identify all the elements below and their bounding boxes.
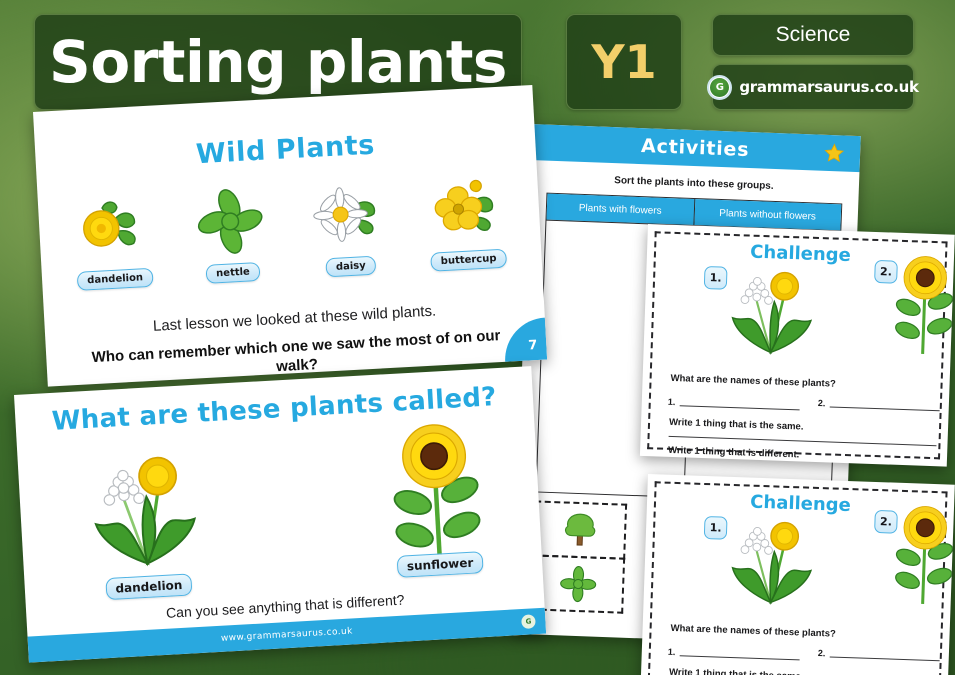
nettle-leaves-icon <box>557 563 598 604</box>
answer-label-1: 1. <box>668 647 676 657</box>
year-badge: Y1 <box>566 14 682 110</box>
tree-icon <box>559 509 600 550</box>
challenge-card-1[interactable]: Challenge 1. 2. <box>640 224 955 467</box>
plant-art <box>427 165 505 253</box>
plant-item-nettle[interactable]: nettle <box>175 177 286 286</box>
plant-item-dandelion[interactable]: dandelion <box>57 183 168 292</box>
wild-plant-row: dandelion nettle <box>57 164 522 292</box>
buttercup-flower-icon <box>427 170 505 248</box>
dandelion-plant-icon <box>721 253 823 364</box>
plant-label: dandelion <box>105 573 193 600</box>
sunflower-plant-icon <box>388 421 484 570</box>
nettle-leaves-icon <box>191 183 269 261</box>
page-title: Sorting plants <box>49 33 507 91</box>
daisy-flower-icon <box>309 176 387 254</box>
plant-item-dandelion[interactable]: dandelion <box>77 436 214 603</box>
subject-badge: Science <box>712 14 914 56</box>
dandelion-plant-icon <box>721 503 823 614</box>
activities-title: Activities <box>641 135 750 161</box>
cutout-tree[interactable] <box>533 500 627 559</box>
cutout-nettle[interactable] <box>531 554 625 613</box>
activities-header-bar: Activities <box>530 124 861 172</box>
plant-label: sunflower <box>396 551 484 578</box>
grammarsaurus-logo-icon: G <box>707 75 732 100</box>
sunflower-plant-icon <box>892 253 955 359</box>
plant-label: dandelion <box>77 268 154 291</box>
slide-plants-called[interactable]: What are these plants called? <box>14 366 546 662</box>
plant-item-daisy[interactable]: daisy <box>293 170 404 279</box>
slide-wild-plants[interactable]: Wild Plants dandelion <box>33 85 547 387</box>
challenge-card-2[interactable]: Challenge 1. 2. <box>640 474 955 675</box>
subject-label: Science <box>776 23 851 47</box>
slide2-plant-row: dandelion sunflower <box>77 421 485 603</box>
grammarsaurus-logo-icon: G <box>521 614 536 629</box>
plant-item-sunflower[interactable]: sunflower <box>388 421 485 586</box>
year-label: Y1 <box>591 35 656 89</box>
plant-item-buttercup[interactable]: buttercup <box>411 164 522 273</box>
footer-url: www.grammarsaurus.co.uk <box>221 626 353 643</box>
plant-art <box>309 171 387 259</box>
dandelion-flower-icon <box>73 189 151 267</box>
plant-label: buttercup <box>430 249 507 272</box>
brand-label: grammarsaurus.co.uk <box>739 78 918 96</box>
plant-label: daisy <box>325 256 376 278</box>
sunflower-plant-icon <box>892 503 955 609</box>
answer-label-2: 2. <box>818 398 826 408</box>
brand-badge: G grammarsaurus.co.uk <box>712 64 914 110</box>
cutout-group[interactable] <box>531 502 627 613</box>
page-number: 7 <box>503 318 547 362</box>
star-icon <box>824 143 845 164</box>
answer-label-1: 1. <box>668 397 676 407</box>
logo-letter: G <box>710 78 729 97</box>
plant-label: nettle <box>206 262 261 284</box>
plant-art <box>191 178 269 266</box>
answer-label-2: 2. <box>818 648 826 658</box>
plant-art <box>73 184 151 272</box>
dandelion-plant-icon <box>77 436 212 579</box>
poster-stage: Sorting plants Y1 Science G grammarsauru… <box>0 0 955 675</box>
activities-instruction: Sort the plants into these groups. <box>529 172 859 195</box>
